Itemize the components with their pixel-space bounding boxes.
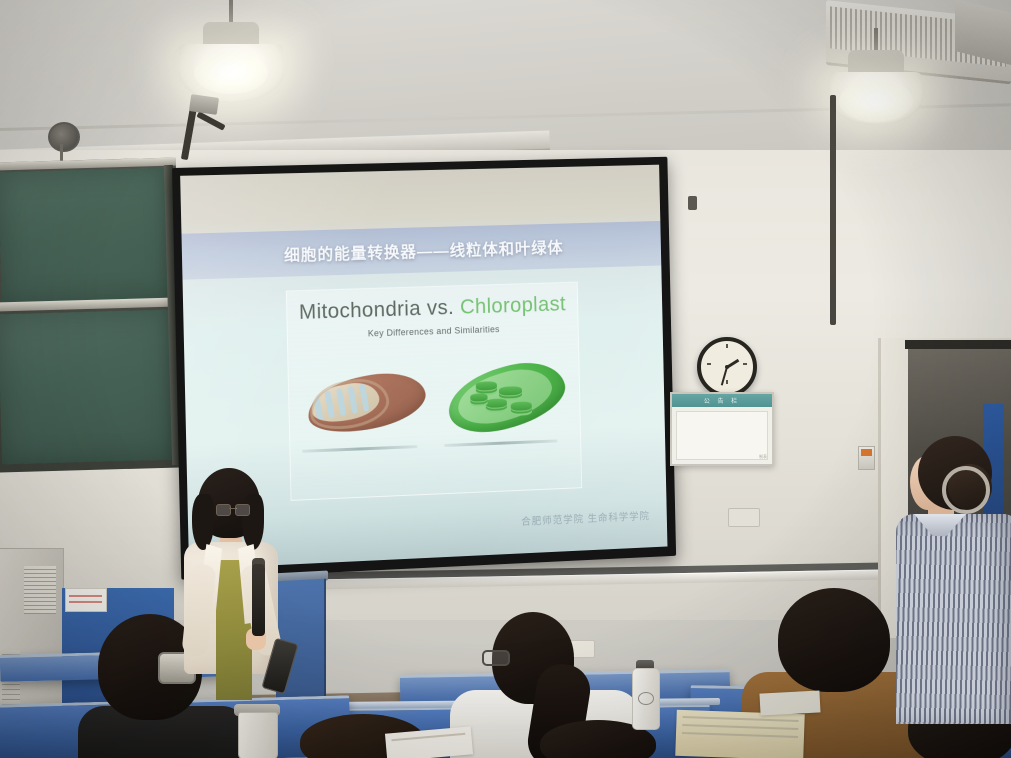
- glasses-lens: [216, 504, 231, 516]
- hair-clip: [942, 466, 990, 514]
- door-frame-top: [905, 340, 1011, 349]
- granum: [470, 393, 487, 401]
- granum: [511, 401, 532, 411]
- paper-line: [391, 733, 465, 741]
- lamp-glow: [839, 80, 913, 122]
- bottle-smiley-icon: [638, 692, 654, 705]
- notice-board-footer-text: 制表: [759, 454, 767, 460]
- glasses-lens: [235, 504, 250, 516]
- mitochondrion-illustration: [300, 356, 431, 448]
- slide-heading: Mitochondria vs. Chloroplast: [287, 292, 577, 325]
- lamp-glow: [194, 52, 268, 94]
- projector-mount-stub: [688, 196, 697, 210]
- slide-title-band: 细胞的能量转换器——线粒体和叶绿体: [181, 221, 661, 280]
- student-head: [778, 588, 890, 692]
- microphone: [252, 564, 265, 636]
- note-sheet: [759, 690, 820, 715]
- wall-speaker-icon: [48, 122, 80, 152]
- standing-woman-right: [896, 436, 1011, 726]
- wall-conduit: [830, 95, 836, 325]
- chloroplast-illustration: [442, 351, 570, 442]
- clock-center-pin: [725, 365, 729, 369]
- presenter-glasses-icon: [216, 504, 250, 514]
- slide-title: 细胞的能量转换器——线粒体和叶绿体: [284, 234, 564, 266]
- slide-heading-green: Chloroplast: [460, 293, 566, 319]
- chalkboard-panel-lower: [0, 310, 174, 465]
- clock-tick: [726, 344, 728, 348]
- notice-board: 公 告 栏 制表: [670, 392, 774, 466]
- slide-subtitle: Key Differences and Similarities: [288, 322, 578, 342]
- light-switch[interactable]: [858, 446, 875, 470]
- open-textbook: [675, 710, 805, 758]
- clock-tick: [743, 363, 747, 365]
- clock-tick: [726, 380, 728, 384]
- pinstripe-shirt: [896, 514, 1011, 724]
- notice-board-header-text: 公 告 栏: [672, 396, 772, 405]
- wall-clock-icon: [697, 337, 757, 397]
- wall-notice-sign: [65, 588, 107, 612]
- wall-outlet: [728, 508, 760, 527]
- granum: [486, 398, 507, 408]
- clock-tick: [707, 363, 711, 365]
- notice-board-header: 公 告 栏: [672, 394, 772, 407]
- classroom-photo: 细胞的能量转换器——线粒体和叶绿体 Mitochondria vs. Chlor…: [0, 0, 1011, 758]
- pendant-lamp-icon: [173, 0, 289, 110]
- presenter-hair-side: [242, 494, 264, 550]
- chalkboard-panel-upper: [0, 168, 174, 305]
- sign-text-line: [69, 601, 102, 603]
- cabinet-grille: [24, 566, 56, 614]
- paper-line: [683, 716, 799, 722]
- switch-toggle[interactable]: [861, 449, 872, 456]
- granum: [476, 381, 497, 391]
- slide-footer: 合肥师范学院 生命科学学院: [521, 508, 650, 528]
- slide-content-card: Mitochondria vs. Chloroplast Key Differe…: [286, 282, 582, 501]
- organelle-illustrations: [288, 343, 580, 464]
- notice-board-body: [676, 411, 768, 460]
- slide-heading-dark: Mitochondria vs.: [299, 296, 461, 324]
- paper-line: [682, 732, 798, 738]
- sign-text-line: [69, 595, 102, 597]
- paper-cup: [238, 712, 278, 758]
- presenter-hair-side: [192, 494, 214, 550]
- student-glasses-icon: [482, 650, 510, 666]
- paper-line: [682, 724, 798, 730]
